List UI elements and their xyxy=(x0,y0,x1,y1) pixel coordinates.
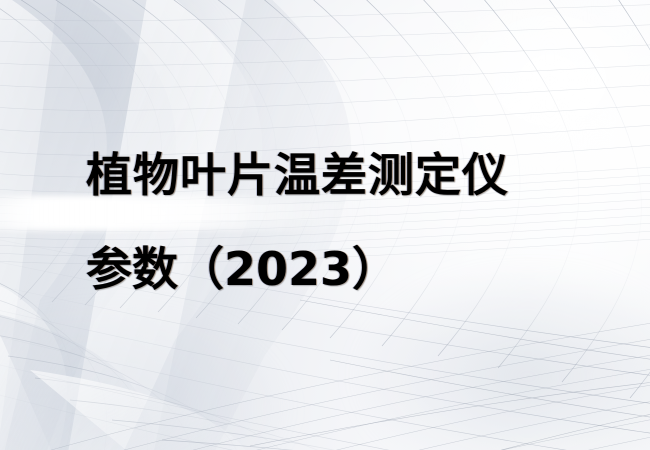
background-shade-bottom-left xyxy=(0,300,380,450)
title-line-2: 参数（2023） xyxy=(86,222,606,316)
page-title: 植物叶片温差测定仪 参数（2023） xyxy=(86,128,606,316)
title-line-1: 植物叶片温差测定仪 xyxy=(86,128,606,222)
title-slide: 植物叶片温差测定仪 参数（2023） xyxy=(0,0,650,450)
